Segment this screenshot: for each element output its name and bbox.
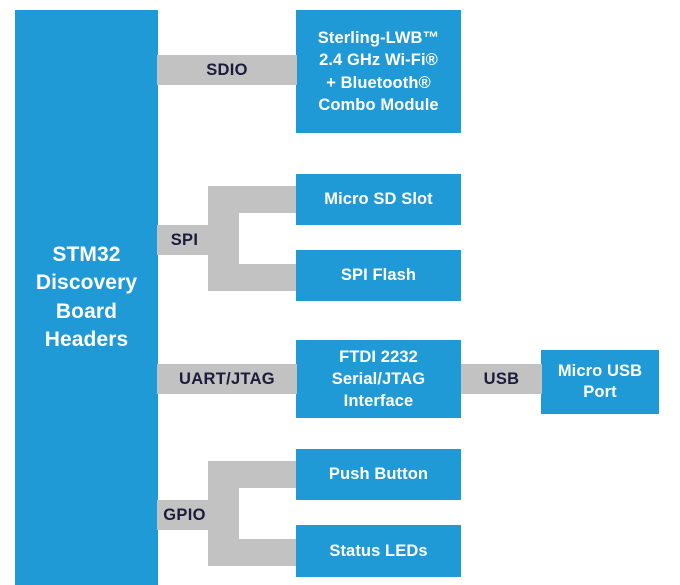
block-diagram: STM32 Discovery Board Headers SDIO Sterl…: [0, 0, 680, 585]
block-sterling-lwb-combo-module: Sterling-LWB™ 2.4 GHz Wi-Fi® + Bluetooth…: [296, 10, 461, 133]
block-stm32-discovery-board-headers: STM32 Discovery Board Headers: [15, 10, 158, 585]
fork-arm-gpio-top: [208, 461, 297, 488]
block-micro-sd-slot: Micro SD Slot: [296, 174, 461, 225]
fork-arm-spi-bottom: [208, 264, 297, 291]
block-micro-usb-port: Micro USB Port: [541, 350, 659, 414]
bus-label-gpio: GPIO: [157, 500, 212, 530]
bus-label-sdio: SDIO: [157, 55, 297, 85]
fork-arm-gpio-bottom: [208, 539, 297, 566]
block-status-leds: Status LEDs: [296, 525, 461, 577]
block-ftdi-2232-serial-jtag-interface: FTDI 2232 Serial/JTAG Interface: [296, 340, 461, 418]
block-spi-flash: SPI Flash: [296, 250, 461, 301]
bus-label-usb: USB: [461, 364, 542, 394]
block-push-button: Push Button: [296, 449, 461, 500]
bus-label-spi: SPI: [157, 225, 212, 255]
fork-arm-spi-top: [208, 186, 297, 213]
bus-label-uart-jtag: UART/JTAG: [157, 364, 297, 394]
